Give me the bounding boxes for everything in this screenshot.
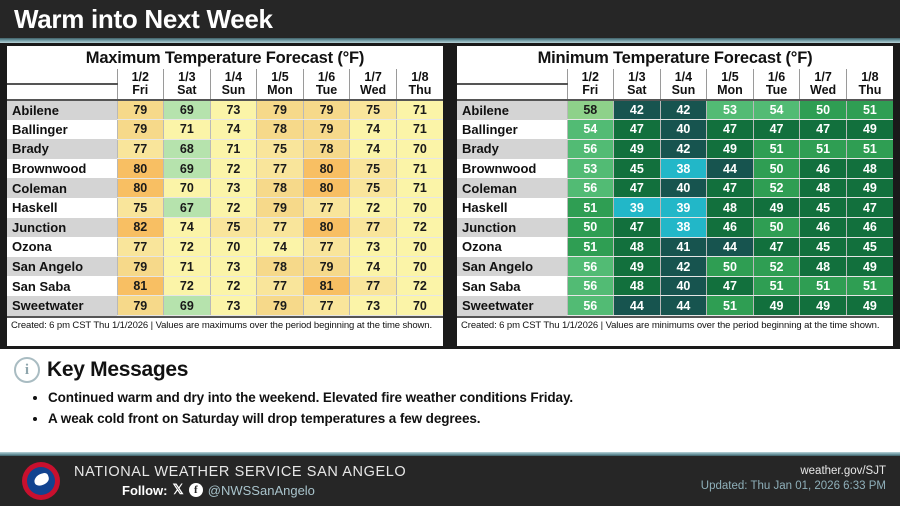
temperature-cell: 81: [117, 276, 164, 296]
temperature-cell: 53: [707, 100, 754, 120]
site-name-cell: Brady: [457, 139, 567, 159]
temperature-cell: 74: [350, 139, 397, 159]
temperature-cell: 79: [303, 100, 350, 120]
max-footnote: Created: 6 pm CST Thu 1/1/2026 | Values …: [7, 316, 443, 333]
x-twitter-icon[interactable]: 𝕏: [173, 482, 184, 499]
temperature-cell: 75: [257, 139, 304, 159]
temperature-cell: 77: [350, 218, 397, 238]
site-name-cell: Ozona: [7, 237, 117, 257]
min-date-6: 1/8: [846, 69, 893, 84]
temperature-cell: 45: [800, 198, 847, 218]
footer-links-block: weather.gov/SJT Updated: Thu Jan 01, 202…: [701, 464, 886, 494]
site-name-cell: San Saba: [7, 276, 117, 296]
key-message-item: Continued warm and dry into the weekend.…: [48, 390, 900, 405]
temperature-cell: 79: [257, 100, 304, 120]
site-name-cell: San Saba: [457, 276, 567, 296]
website-link[interactable]: weather.gov/SJT: [701, 464, 886, 479]
temperature-cell: 50: [707, 257, 754, 277]
temperature-cell: 47: [707, 178, 754, 198]
min-day-0: Fri: [567, 84, 614, 100]
temperature-cell: 71: [210, 139, 257, 159]
temperature-cell: 49: [846, 296, 893, 316]
temperature-cell: 51: [846, 100, 893, 120]
max-day-6: Thu: [396, 84, 443, 100]
temperature-cell: 47: [707, 276, 754, 296]
temperature-cell: 47: [753, 237, 800, 257]
max-day-1: Sat: [164, 84, 211, 100]
temperature-cell: 75: [350, 159, 397, 179]
temperature-cell: 50: [567, 218, 614, 238]
site-name-cell: Junction: [7, 218, 117, 238]
max-date-2: 1/4: [210, 69, 257, 84]
temperature-cell: 80: [303, 178, 350, 198]
temperature-cell: 52: [753, 257, 800, 277]
max-day-header-row: Fri Sat Sun Mon Tue Wed Thu: [7, 84, 443, 100]
max-date-4: 1/6: [303, 69, 350, 84]
temperature-cell: 48: [707, 198, 754, 218]
temperature-cell: 44: [614, 296, 661, 316]
temperature-cell: 75: [117, 198, 164, 218]
min-date-4: 1/6: [753, 69, 800, 84]
temperature-cell: 56: [567, 257, 614, 277]
site-name-cell: Abilene: [457, 100, 567, 120]
temperature-cell: 46: [846, 218, 893, 238]
max-date-3: 1/5: [257, 69, 304, 84]
max-corner-cell-2: [7, 84, 117, 100]
updated-timestamp: Updated: Thu Jan 01, 2026 6:33 PM: [701, 479, 886, 494]
page-title: Warm into Next Week: [14, 6, 273, 32]
table-row: Junction82747577807772: [7, 218, 443, 238]
max-corner-cell: [7, 69, 117, 84]
temperature-cell: 49: [846, 178, 893, 198]
table-row: Brady56494249515151: [457, 139, 893, 159]
min-date-1: 1/3: [614, 69, 661, 84]
site-name-cell: Coleman: [7, 178, 117, 198]
temperature-cell: 77: [117, 139, 164, 159]
table-row: Haskell75677279777270: [7, 198, 443, 218]
site-name-cell: Haskell: [457, 198, 567, 218]
temperature-cell: 78: [303, 139, 350, 159]
temperature-cell: 80: [117, 178, 164, 198]
site-name-cell: Ballinger: [7, 120, 117, 140]
table-row: Sweetwater79697379777370: [7, 296, 443, 316]
temperature-cell: 75: [210, 218, 257, 238]
min-date-0: 1/2: [567, 69, 614, 84]
temperature-cell: 49: [846, 257, 893, 277]
site-name-cell: Ozona: [457, 237, 567, 257]
temperature-cell: 44: [660, 296, 707, 316]
temperature-cell: 45: [800, 237, 847, 257]
temperature-cell: 75: [350, 100, 397, 120]
facebook-icon[interactable]: f: [189, 483, 203, 497]
temperature-cell: 40: [660, 178, 707, 198]
temperature-cell: 47: [614, 218, 661, 238]
temperature-cell: 72: [396, 218, 443, 238]
site-name-cell: San Angelo: [7, 257, 117, 277]
temperature-cell: 42: [660, 139, 707, 159]
min-date-3: 1/5: [707, 69, 754, 84]
min-corner-cell-2: [457, 84, 567, 100]
temperature-cell: 79: [117, 100, 164, 120]
temperature-cell: 73: [350, 296, 397, 316]
temperature-cell: 47: [753, 120, 800, 140]
temperature-cell: 51: [846, 276, 893, 296]
key-messages-header: i Key Messages: [14, 357, 900, 383]
site-name-cell: Coleman: [457, 178, 567, 198]
temperature-cell: 70: [396, 257, 443, 277]
max-day-2: Sun: [210, 84, 257, 100]
temperature-cell: 72: [164, 276, 211, 296]
max-date-0: 1/2: [117, 69, 164, 84]
temperature-cell: 77: [257, 218, 304, 238]
max-table-title: Maximum Temperature Forecast (°F): [7, 46, 443, 69]
temperature-cell: 71: [164, 120, 211, 140]
max-date-header-row: 1/2 1/3 1/4 1/5 1/6 1/7 1/8: [7, 69, 443, 84]
temperature-cell: 51: [707, 296, 754, 316]
temperature-cell: 41: [660, 237, 707, 257]
temperature-cell: 51: [846, 139, 893, 159]
temperature-cell: 40: [660, 120, 707, 140]
temperature-cell: 72: [210, 159, 257, 179]
temperature-cell: 53: [567, 159, 614, 179]
temperature-cell: 79: [257, 198, 304, 218]
temperature-cell: 56: [567, 178, 614, 198]
temperature-cell: 42: [660, 100, 707, 120]
temperature-cell: 67: [164, 198, 211, 218]
temperature-cell: 50: [800, 100, 847, 120]
temperature-cell: 47: [614, 120, 661, 140]
temperature-cell: 51: [753, 276, 800, 296]
temperature-cell: 51: [800, 139, 847, 159]
temperature-cell: 74: [257, 237, 304, 257]
follow-label: Follow:: [122, 483, 168, 498]
temperature-cell: 70: [396, 237, 443, 257]
min-footnote: Created: 6 pm CST Thu 1/1/2026 | Values …: [457, 316, 893, 333]
temperature-cell: 73: [350, 237, 397, 257]
temperature-cell: 79: [303, 120, 350, 140]
site-name-cell: Sweetwater: [457, 296, 567, 316]
temperature-cell: 49: [753, 198, 800, 218]
site-name-cell: Sweetwater: [7, 296, 117, 316]
temperature-cell: 79: [303, 257, 350, 277]
temperature-cell: 47: [614, 178, 661, 198]
temperature-cell: 48: [846, 159, 893, 179]
site-name-cell: Junction: [457, 218, 567, 238]
table-row: Ozona77727074777370: [7, 237, 443, 257]
min-day-2: Sun: [660, 84, 707, 100]
temperature-cell: 58: [567, 100, 614, 120]
table-row: Coleman56474047524849: [457, 178, 893, 198]
key-message-item: A weak cold front on Saturday will drop …: [48, 411, 900, 426]
temperature-cell: 69: [164, 296, 211, 316]
temperature-cell: 49: [707, 139, 754, 159]
site-name-cell: Brownwood: [7, 159, 117, 179]
key-messages-section: i Key Messages Continued warm and dry in…: [0, 349, 900, 426]
temperature-cell: 77: [350, 276, 397, 296]
temperature-cell: 71: [396, 120, 443, 140]
temperature-cell: 71: [396, 100, 443, 120]
temperature-cell: 49: [614, 139, 661, 159]
max-day-4: Tue: [303, 84, 350, 100]
table-row: Ballinger79717478797471: [7, 120, 443, 140]
temperature-cell: 78: [257, 178, 304, 198]
temperature-cell: 49: [753, 296, 800, 316]
temperature-cell: 48: [614, 276, 661, 296]
temperature-cell: 74: [350, 120, 397, 140]
temperature-cell: 56: [567, 139, 614, 159]
temperature-cell: 77: [257, 276, 304, 296]
temperature-cell: 79: [117, 120, 164, 140]
table-row: San Angelo56494250524849: [457, 257, 893, 277]
temperature-cell: 77: [257, 159, 304, 179]
temperature-cell: 80: [117, 159, 164, 179]
social-handle[interactable]: @NWSSanAngelo: [208, 483, 315, 498]
max-date-5: 1/7: [350, 69, 397, 84]
key-messages-heading: Key Messages: [47, 358, 188, 382]
min-date-5: 1/7: [800, 69, 847, 84]
temperature-cell: 47: [846, 198, 893, 218]
temperature-cell: 70: [396, 296, 443, 316]
min-date-2: 1/4: [660, 69, 707, 84]
temperature-cell: 70: [396, 139, 443, 159]
temperature-cell: 68: [164, 139, 211, 159]
temperature-cell: 71: [396, 178, 443, 198]
temperature-cell: 51: [800, 276, 847, 296]
temperature-cell: 77: [303, 296, 350, 316]
temperature-cell: 73: [210, 257, 257, 277]
temperature-cell: 48: [800, 257, 847, 277]
temperature-cell: 74: [350, 257, 397, 277]
footer-bar: NATIONAL WEATHER SERVICE SAN ANGELO Foll…: [0, 456, 900, 506]
table-row: Brady77687175787470: [7, 139, 443, 159]
temperature-cell: 79: [117, 296, 164, 316]
site-name-cell: Ballinger: [457, 120, 567, 140]
max-temperature-table: 1/2 1/3 1/4 1/5 1/6 1/7 1/8 Fri Sat Sun …: [7, 69, 443, 316]
temperature-cell: 79: [257, 296, 304, 316]
temperature-cell: 46: [707, 218, 754, 238]
min-corner-cell: [457, 69, 567, 84]
table-row: San Saba56484047515151: [457, 276, 893, 296]
temperature-cell: 50: [753, 159, 800, 179]
temperature-cell: 49: [846, 120, 893, 140]
table-row: Coleman80707378807571: [7, 178, 443, 198]
max-day-0: Fri: [117, 84, 164, 100]
temperature-cell: 77: [303, 198, 350, 218]
temperature-cell: 48: [614, 237, 661, 257]
temperature-cell: 72: [396, 276, 443, 296]
temperature-cell: 49: [614, 257, 661, 277]
temperature-cell: 39: [660, 198, 707, 218]
table-row: Ozona51484144474545: [457, 237, 893, 257]
temperature-cell: 56: [567, 276, 614, 296]
table-row: Brownwood80697277807571: [7, 159, 443, 179]
min-day-5: Wed: [800, 84, 847, 100]
temperature-cell: 73: [210, 100, 257, 120]
temperature-cell: 77: [117, 237, 164, 257]
max-day-5: Wed: [350, 84, 397, 100]
min-temperature-panel: Minimum Temperature Forecast (°F) 1/2 1/…: [454, 43, 896, 349]
weather-graphic: Warm into Next Week Maximum Temperature …: [0, 0, 900, 506]
temperature-cell: 72: [210, 276, 257, 296]
temperature-cell: 46: [800, 159, 847, 179]
temperature-cell: 51: [567, 237, 614, 257]
temperature-cell: 72: [164, 237, 211, 257]
min-table-title: Minimum Temperature Forecast (°F): [457, 46, 893, 69]
forecast-tables: Maximum Temperature Forecast (°F) 1/2 1/…: [0, 43, 900, 349]
temperature-cell: 45: [846, 237, 893, 257]
temperature-cell: 39: [614, 198, 661, 218]
temperature-cell: 44: [707, 237, 754, 257]
table-row: San Angelo79717378797470: [7, 257, 443, 277]
temperature-cell: 74: [210, 120, 257, 140]
temperature-cell: 73: [210, 178, 257, 198]
max-table-body: Abilene79697379797571Ballinger7971747879…: [7, 100, 443, 316]
site-name-cell: Haskell: [7, 198, 117, 218]
temperature-cell: 46: [800, 218, 847, 238]
temperature-cell: 50: [753, 218, 800, 238]
temperature-cell: 80: [303, 159, 350, 179]
temperature-cell: 77: [303, 237, 350, 257]
temperature-cell: 73: [210, 296, 257, 316]
temperature-cell: 74: [164, 218, 211, 238]
table-row: Junction50473846504646: [457, 218, 893, 238]
max-temperature-panel: Maximum Temperature Forecast (°F) 1/2 1/…: [4, 43, 446, 349]
noaa-nws-logo-icon: [22, 462, 60, 500]
temperature-cell: 70: [210, 237, 257, 257]
temperature-cell: 79: [117, 257, 164, 277]
title-bar: Warm into Next Week: [0, 0, 900, 38]
temperature-cell: 69: [164, 159, 211, 179]
max-day-3: Mon: [257, 84, 304, 100]
temperature-cell: 82: [117, 218, 164, 238]
temperature-cell: 78: [257, 120, 304, 140]
temperature-cell: 51: [567, 198, 614, 218]
temperature-cell: 49: [800, 296, 847, 316]
temperature-cell: 80: [303, 218, 350, 238]
table-row: Sweetwater56444451494949: [457, 296, 893, 316]
min-day-3: Mon: [707, 84, 754, 100]
min-day-4: Tue: [753, 84, 800, 100]
temperature-cell: 70: [164, 178, 211, 198]
temperature-cell: 47: [800, 120, 847, 140]
min-table-body: Abilene58424253545051Ballinger5447404747…: [457, 100, 893, 316]
temperature-cell: 45: [614, 159, 661, 179]
temperature-cell: 47: [707, 120, 754, 140]
temperature-cell: 52: [753, 178, 800, 198]
temperature-cell: 75: [350, 178, 397, 198]
footer-agency-block: NATIONAL WEATHER SERVICE SAN ANGELO Foll…: [74, 464, 406, 499]
table-row: Brownwood53453844504648: [457, 159, 893, 179]
min-date-header-row: 1/2 1/3 1/4 1/5 1/6 1/7 1/8: [457, 69, 893, 84]
agency-name: NATIONAL WEATHER SERVICE SAN ANGELO: [74, 464, 406, 481]
site-name-cell: Abilene: [7, 100, 117, 120]
temperature-cell: 42: [660, 257, 707, 277]
table-row: San Saba81727277817772: [7, 276, 443, 296]
site-name-cell: Brady: [7, 139, 117, 159]
temperature-cell: 81: [303, 276, 350, 296]
temperature-cell: 38: [660, 218, 707, 238]
temperature-cell: 54: [567, 120, 614, 140]
temperature-cell: 38: [660, 159, 707, 179]
temperature-cell: 71: [396, 159, 443, 179]
temperature-cell: 48: [800, 178, 847, 198]
table-row: Haskell51393948494547: [457, 198, 893, 218]
site-name-cell: Brownwood: [457, 159, 567, 179]
table-row: Ballinger54474047474749: [457, 120, 893, 140]
temperature-cell: 71: [164, 257, 211, 277]
min-temperature-table: 1/2 1/3 1/4 1/5 1/6 1/7 1/8 Fri Sat Sun …: [457, 69, 893, 316]
min-day-header-row: Fri Sat Sun Mon Tue Wed Thu: [457, 84, 893, 100]
temperature-cell: 69: [164, 100, 211, 120]
max-date-6: 1/8: [396, 69, 443, 84]
temperature-cell: 42: [614, 100, 661, 120]
temperature-cell: 72: [350, 198, 397, 218]
max-date-1: 1/3: [164, 69, 211, 84]
info-circle-icon: i: [14, 357, 40, 383]
social-follow-row: Follow: 𝕏 f @NWSSanAngelo: [122, 482, 406, 499]
table-row: Abilene58424253545051: [457, 100, 893, 120]
key-messages-list: Continued warm and dry into the weekend.…: [14, 390, 900, 426]
temperature-cell: 44: [707, 159, 754, 179]
temperature-cell: 56: [567, 296, 614, 316]
temperature-cell: 51: [753, 139, 800, 159]
temperature-cell: 70: [396, 198, 443, 218]
table-row: Abilene79697379797571: [7, 100, 443, 120]
site-name-cell: San Angelo: [457, 257, 567, 277]
min-day-1: Sat: [614, 84, 661, 100]
min-day-6: Thu: [846, 84, 893, 100]
temperature-cell: 78: [257, 257, 304, 277]
temperature-cell: 40: [660, 276, 707, 296]
temperature-cell: 72: [210, 198, 257, 218]
temperature-cell: 54: [753, 100, 800, 120]
